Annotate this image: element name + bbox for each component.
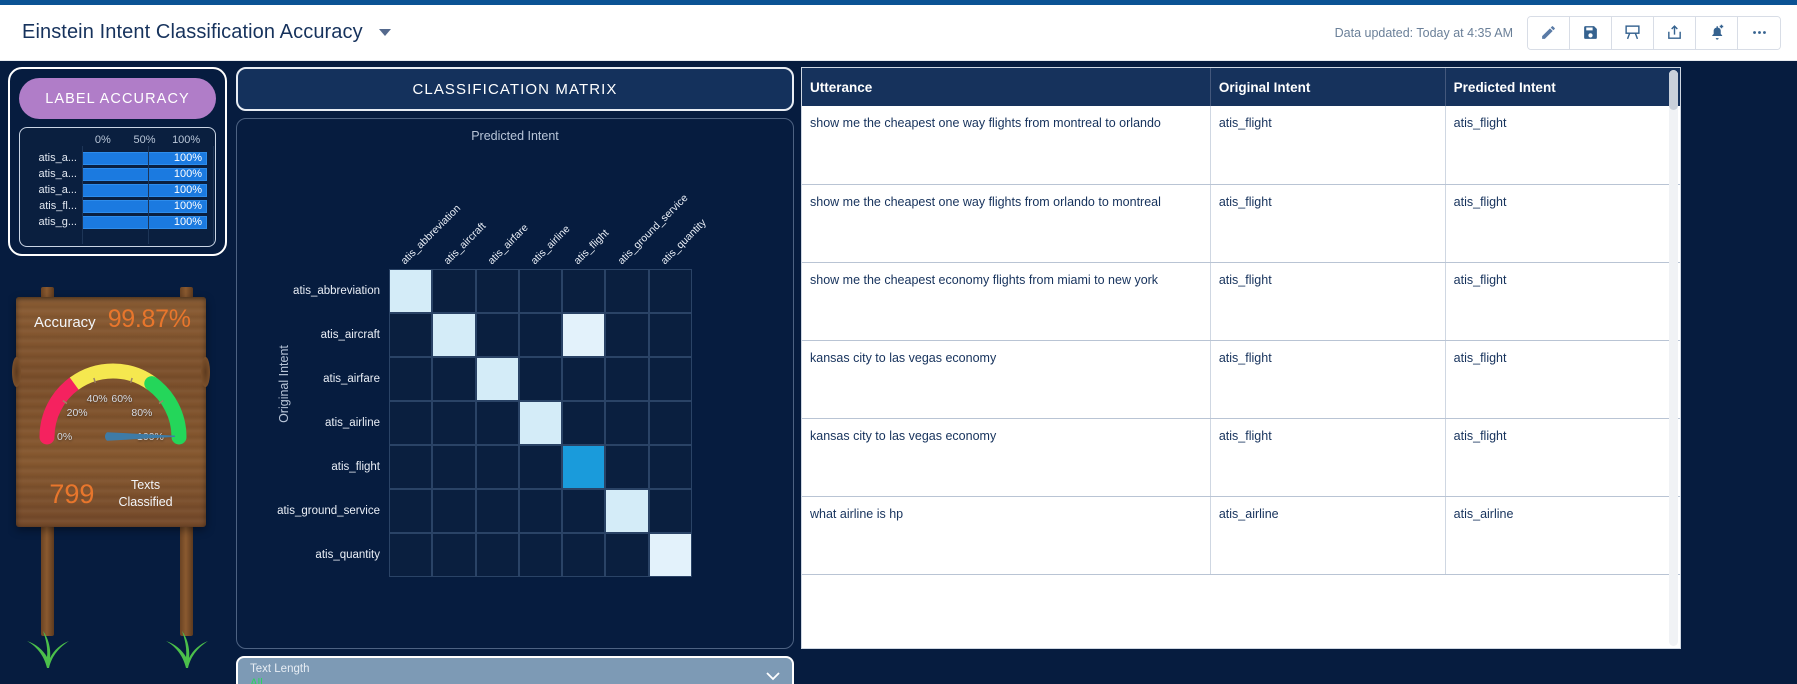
dashboard-header: Einstein Intent Classification Accuracy … (0, 5, 1797, 61)
label-accuracy-bar-label: atis_a... (26, 184, 82, 196)
matrix-cell[interactable] (389, 313, 432, 357)
label-accuracy-gridline (148, 146, 149, 244)
matrix-cell[interactable] (649, 313, 692, 357)
matrix-cell[interactable] (605, 401, 648, 445)
matrix-x-axis-title: Predicted Intent (237, 129, 793, 143)
matrix-row-label: atis_abbreviation (293, 269, 380, 313)
matrix-col-label: atis_flight (572, 227, 612, 267)
utterance-table-head: UtteranceOriginal IntentPredicted Intent (802, 68, 1680, 106)
chevron-down-icon[interactable] (766, 669, 780, 684)
matrix-grid: atis_abbreviationatis_aircraftatis_airfa… (389, 269, 692, 577)
table-cell: kansas city to las vegas economy (802, 340, 1210, 418)
matrix-row-label: atis_airfare (323, 357, 380, 401)
label-accuracy-bar-fill: 100% (82, 184, 207, 197)
gauge-dial: 0%20%40%60%80%100% (29, 349, 197, 459)
texts-classified-count: 799 (49, 479, 94, 510)
matrix-cell[interactable] (476, 269, 519, 313)
present-button[interactable] (1612, 17, 1654, 49)
table-column-header[interactable]: Original Intent (1210, 68, 1445, 106)
table-cell: atis_flight (1445, 262, 1680, 340)
table-cell: atis_flight (1445, 184, 1680, 262)
label-accuracy-chart[interactable]: 0%50%100% atis_a...100%atis_a...100%atis… (19, 127, 216, 247)
matrix-cell[interactable] (649, 269, 692, 313)
matrix-cell[interactable] (389, 401, 432, 445)
table-row[interactable]: what airline is hpatis_airlineatis_airli… (802, 496, 1680, 574)
matrix-cell[interactable] (649, 445, 692, 489)
label-accuracy-axis: 0%50%100% (26, 134, 207, 150)
label-accuracy-title: LABEL ACCURACY (19, 78, 216, 119)
table-row[interactable]: show me the cheapest one way flights fro… (802, 106, 1680, 184)
table-row[interactable]: show me the cheapest economy flights fro… (802, 262, 1680, 340)
data-updated-text: Data updated: Today at 4:35 AM (1335, 26, 1513, 40)
label-accuracy-bar-track: 100% (82, 183, 207, 197)
classification-matrix-widget[interactable]: Predicted Intent Original Intent atis_ab… (236, 118, 794, 649)
matrix-row-label: atis_airline (325, 401, 380, 445)
edit-button[interactable] (1528, 17, 1570, 49)
more-button[interactable] (1738, 17, 1780, 49)
text-length-filter[interactable]: Text Length All (236, 656, 794, 684)
matrix-cell[interactable] (519, 533, 562, 577)
gauge-value: 99.87% (108, 305, 191, 334)
label-accuracy-bar-row[interactable]: atis_g...100% (26, 214, 207, 229)
matrix-row-label: atis_aircraft (321, 313, 380, 357)
table-row[interactable]: kansas city to las vegas economyatis_fli… (802, 340, 1680, 418)
matrix-cell[interactable] (649, 401, 692, 445)
label-accuracy-bar-fill: 100% (82, 168, 207, 181)
matrix-cell[interactable] (519, 313, 562, 357)
label-accuracy-widget: LABEL ACCURACY 0%50%100% atis_a...100%at… (8, 67, 227, 256)
matrix-cell[interactable] (649, 533, 692, 577)
text-length-filter-texts: Text Length All (250, 662, 766, 684)
matrix-cell[interactable] (519, 445, 562, 489)
matrix-cell[interactable] (605, 357, 648, 401)
wooden-board: Accuracy 99.87% 0%20%40%60%80%100% 799 T… (16, 297, 206, 527)
matrix-cell[interactable] (476, 445, 519, 489)
table-cell: show me the cheapest one way flights fro… (802, 106, 1210, 184)
table-row[interactable]: show me the cheapest one way flights fro… (802, 184, 1680, 262)
gauge-header: Accuracy 99.87% (16, 305, 206, 334)
matrix-row-label: atis_flight (331, 445, 380, 489)
caption-line-2: Classified (118, 495, 172, 509)
utterance-table: UtteranceOriginal IntentPredicted Intent… (802, 68, 1680, 575)
matrix-cell[interactable] (432, 489, 475, 533)
matrix-cell[interactable] (389, 357, 432, 401)
label-accuracy-bar-track: 100% (82, 151, 207, 165)
page-title: Einstein Intent Classification Accuracy (22, 21, 363, 44)
table-cell: atis_flight (1210, 106, 1445, 184)
table-scrollbar-thumb[interactable] (1669, 70, 1678, 110)
save-button[interactable] (1570, 17, 1612, 49)
label-accuracy-bar-label: atis_fl... (26, 200, 82, 212)
utterance-table-widget[interactable]: UtteranceOriginal IntentPredicted Intent… (801, 67, 1681, 649)
label-accuracy-bar-track: 100% (82, 167, 207, 181)
table-cell: what airline is hp (802, 496, 1210, 574)
matrix-cell[interactable] (519, 489, 562, 533)
label-accuracy-bar-row[interactable]: atis_a...100% (26, 182, 207, 197)
grass-right-icon (163, 622, 209, 668)
matrix-cell[interactable] (562, 313, 605, 357)
label-accuracy-bar-track: 100% (82, 199, 207, 213)
share-button[interactable] (1654, 17, 1696, 49)
matrix-col-label: atis_ground_service (615, 192, 690, 267)
classification-matrix-title: CLASSIFICATION MATRIX (236, 67, 794, 111)
label-accuracy-gridline (82, 146, 83, 244)
matrix-cell[interactable] (476, 357, 519, 401)
matrix-y-axis-title: Original Intent (277, 345, 291, 423)
matrix-cell[interactable] (432, 533, 475, 577)
table-cell: atis_flight (1210, 418, 1445, 496)
matrix-cell[interactable] (605, 313, 648, 357)
matrix-row-label: atis_ground_service (277, 489, 380, 533)
gauge-tick-label: 0% (57, 431, 72, 443)
table-cell: atis_flight (1445, 106, 1680, 184)
accuracy-gauge-widget: Accuracy 99.87% 0%20%40%60%80%100% 799 T… (8, 263, 227, 678)
matrix-row-label: atis_quantity (315, 533, 380, 577)
label-accuracy-bar-row[interactable]: atis_a...100% (26, 150, 207, 165)
label-accuracy-bars: atis_a...100%atis_a...100%atis_a...100%a… (26, 150, 207, 229)
matrix-cell[interactable] (476, 489, 519, 533)
table-row[interactable]: kansas city to las vegas economyatis_fli… (802, 418, 1680, 496)
matrix-col-label: atis_aircraft (442, 220, 489, 267)
table-column-header[interactable]: Utterance (802, 68, 1210, 106)
matrix-cell[interactable] (476, 533, 519, 577)
label-accuracy-bar-fill: 100% (82, 200, 207, 213)
table-cell: kansas city to las vegas economy (802, 418, 1210, 496)
label-accuracy-bar-label: atis_g... (26, 216, 82, 228)
matrix-title-text: CLASSIFICATION MATRIX (412, 81, 617, 98)
matrix-cell[interactable] (562, 445, 605, 489)
matrix-cell[interactable] (649, 357, 692, 401)
label-accuracy-bar-label: atis_a... (26, 168, 82, 180)
gauge-segment-2 (152, 384, 179, 437)
matrix-cell[interactable] (562, 489, 605, 533)
gauge-tick-label: 80% (131, 407, 152, 419)
matrix-cell[interactable] (519, 401, 562, 445)
matrix-cell[interactable] (562, 401, 605, 445)
table-column-header[interactable]: Predicted Intent (1445, 68, 1680, 106)
gauge-segment-1 (74, 371, 152, 384)
matrix-cell[interactable] (562, 269, 605, 313)
texts-classified-caption: Texts Classified (118, 477, 172, 511)
text-length-filter-value: All (250, 677, 766, 684)
texts-classified-block: 799 Texts Classified (16, 477, 206, 511)
table-cell: atis_flight (1210, 340, 1445, 418)
label-accuracy-tick: 100% (165, 134, 207, 150)
matrix-col-label: atis_airfare (485, 222, 530, 267)
matrix-column-labels: atis_abbreviationatis_aircraftatis_airfa… (389, 157, 692, 267)
table-cell: atis_flight (1445, 418, 1680, 496)
matrix-cell[interactable] (605, 533, 648, 577)
grass-left-icon (24, 622, 70, 668)
matrix-cell[interactable] (605, 269, 648, 313)
gauge-label: Accuracy (34, 314, 96, 331)
matrix-cell[interactable] (389, 445, 432, 489)
matrix-cell[interactable] (476, 313, 519, 357)
label-accuracy-bar-label: atis_a... (26, 152, 82, 164)
table-cell: show me the cheapest economy flights fro… (802, 262, 1210, 340)
table-header-row: UtteranceOriginal IntentPredicted Intent (802, 68, 1680, 106)
table-cell: atis_flight (1445, 340, 1680, 418)
table-cell: atis_flight (1210, 262, 1445, 340)
gauge-tick-label: 20% (67, 407, 88, 419)
matrix-cell[interactable] (519, 357, 562, 401)
matrix-cell[interactable] (605, 445, 648, 489)
table-cell: atis_flight (1210, 184, 1445, 262)
matrix-cell[interactable] (605, 489, 648, 533)
label-accuracy-tick: 0% (82, 134, 124, 150)
matrix-cell[interactable] (389, 489, 432, 533)
matrix-col-label: atis_airline (529, 223, 573, 267)
gauge-tick-label: 40% (87, 393, 108, 405)
matrix-cell[interactable] (432, 313, 475, 357)
label-accuracy-bar-row[interactable]: atis_fl...100% (26, 198, 207, 213)
matrix-cell[interactable] (562, 533, 605, 577)
dashboard-canvas: LABEL ACCURACY 0%50%100% atis_a...100%at… (0, 61, 1797, 684)
matrix-cell[interactable] (649, 489, 692, 533)
matrix-cell[interactable] (389, 533, 432, 577)
matrix-cell[interactable] (432, 401, 475, 445)
matrix-cell[interactable] (476, 401, 519, 445)
matrix-cell[interactable] (432, 445, 475, 489)
subscribe-button[interactable] (1696, 17, 1738, 49)
table-cell: atis_airline (1210, 496, 1445, 574)
matrix-cell[interactable] (562, 357, 605, 401)
matrix-cell[interactable] (432, 269, 475, 313)
label-accuracy-bar-row[interactable]: atis_a...100% (26, 166, 207, 181)
gauge-tick-label: 60% (111, 393, 132, 405)
matrix-cell[interactable] (519, 269, 562, 313)
header-actions: Data updated: Today at 4:35 AM (1335, 16, 1781, 50)
label-accuracy-bar-fill: 100% (82, 152, 207, 165)
matrix-cell[interactable] (389, 269, 432, 313)
text-length-filter-label: Text Length (250, 662, 766, 676)
caption-line-1: Texts (131, 478, 160, 492)
table-cell: show me the cheapest one way flights fro… (802, 184, 1210, 262)
label-accuracy-bar-track: 100% (82, 215, 207, 229)
label-accuracy-tick: 50% (124, 134, 166, 150)
table-cell: atis_airline (1445, 496, 1680, 574)
matrix-cell[interactable] (432, 357, 475, 401)
label-accuracy-bar-fill: 100% (82, 216, 207, 229)
label-accuracy-gridline (213, 146, 214, 244)
header-button-group (1527, 16, 1781, 50)
utterance-table-body: show me the cheapest one way flights fro… (802, 106, 1680, 574)
table-scrollbar[interactable] (1669, 70, 1678, 646)
title-chevron-down-icon[interactable] (379, 29, 391, 36)
